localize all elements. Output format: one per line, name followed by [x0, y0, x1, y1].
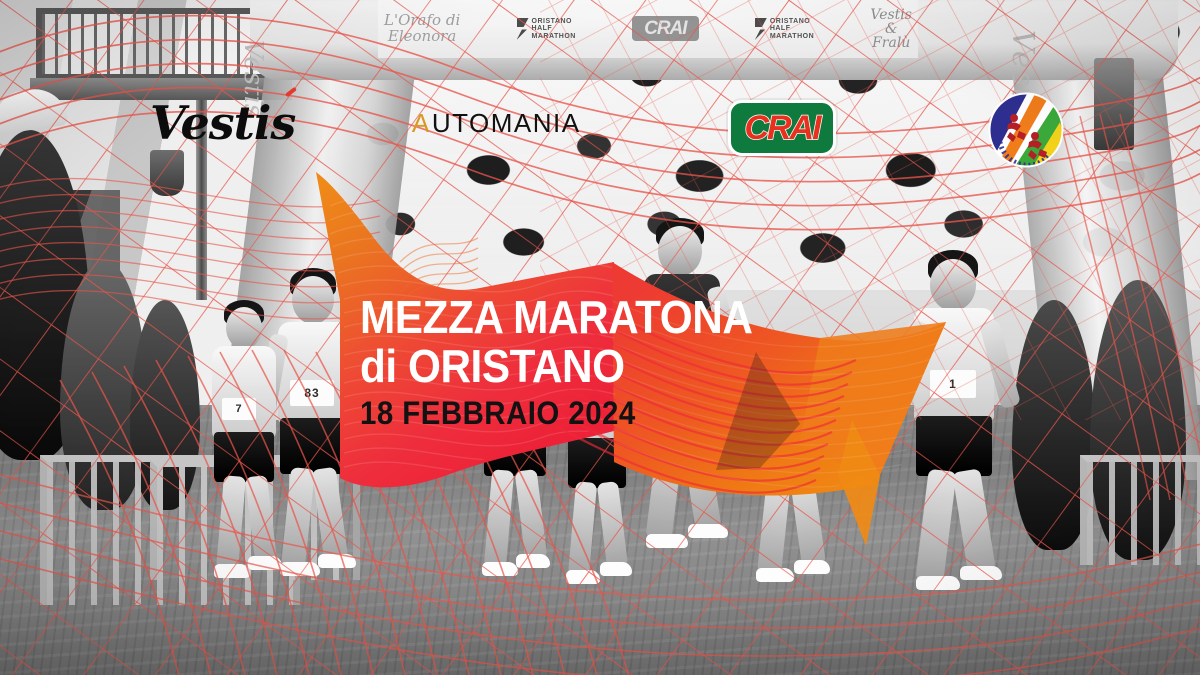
runner-bib: 83 — [290, 380, 334, 406]
ohm-line1-b: ORISTANO — [770, 18, 814, 25]
runner — [470, 330, 562, 630]
arch-banner-orafo-line2: Eleonora — [384, 29, 460, 45]
runner: 7 — [200, 300, 296, 600]
half-marathon-logo-icon-2 — [755, 18, 767, 40]
poster-canvas: Vestis Vestis L'Orafo di Eleonora ORISTA… — [0, 0, 1200, 675]
runner-bib: 32 — [766, 386, 806, 410]
background-photo: Vestis Vestis L'Orafo di Eleonora ORISTA… — [0, 0, 1200, 675]
runner — [630, 218, 740, 578]
arch-banner-orafo: L'Orafo di Eleonora — [384, 13, 460, 45]
ohm-line1-a: ORISTANO — [532, 18, 576, 25]
runner: 32 — [742, 330, 842, 630]
drainpipe — [196, 100, 207, 300]
arch-banner-half-marathon-1: ORISTANO HALF MARATHON — [517, 18, 576, 40]
runner: 1 — [898, 250, 1016, 610]
ohm-line3-a: MARATHON — [532, 33, 576, 40]
vf-line1: Vestis — [870, 8, 912, 22]
arch-leg-brand-right: Vestis — [1005, 30, 1040, 131]
arch-banner-half-marathon-2: ORISTANO HALF MARATHON — [755, 18, 814, 40]
runner-bib: 1 — [930, 370, 976, 398]
arch-banner-crai: CRAI — [632, 19, 698, 39]
arch-banner-crai-label: CRAI — [632, 16, 698, 41]
vf-line2: & — [870, 22, 912, 36]
arch-banner: L'Orafo di Eleonora ORISTANO HALF MARATH… — [378, 0, 918, 58]
arch-banner-vestis-fralu: Vestis & Fralù — [870, 8, 912, 50]
vf-line3: Fralù — [870, 36, 912, 50]
ohm-line2-a: HALF — [532, 25, 576, 32]
ohm-line3-b: MARATHON — [770, 33, 814, 40]
ohm-line2-b: HALF — [770, 25, 814, 32]
half-marathon-logo-icon — [517, 18, 529, 40]
wall-lamp — [150, 150, 184, 196]
crowd-barrier — [1080, 455, 1200, 565]
runner-bib: 7 — [222, 398, 256, 420]
runner — [556, 350, 644, 640]
pa-speaker — [1094, 58, 1134, 150]
arch-leg-brand-left: Vestis — [238, 40, 268, 117]
